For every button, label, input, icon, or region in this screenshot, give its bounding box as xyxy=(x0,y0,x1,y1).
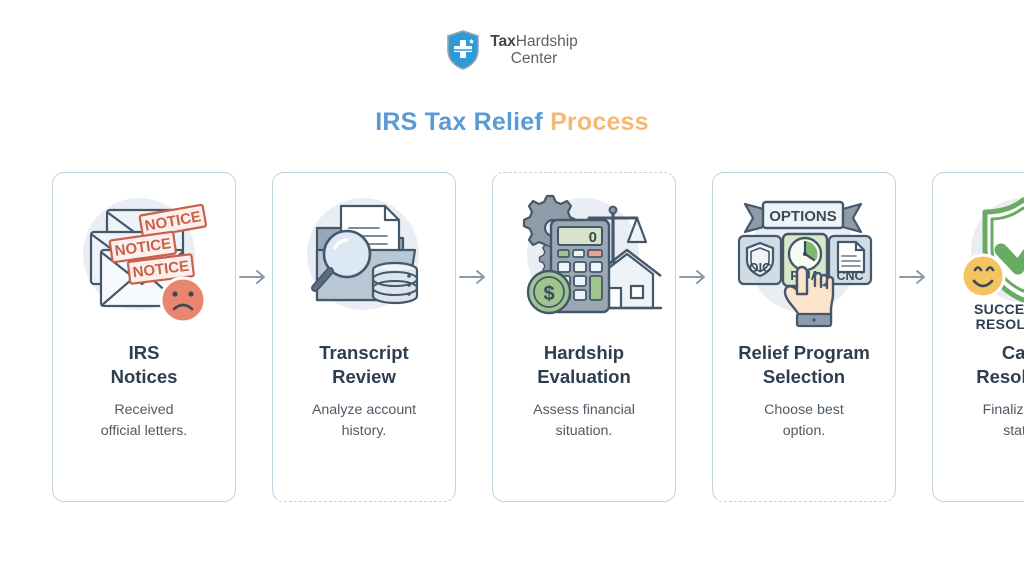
brand-name-rest: Hardship xyxy=(516,33,578,50)
step-card-relief-program-selection[interactable]: OPTIONS OIC xyxy=(712,172,896,502)
brand-name-bold: Tax xyxy=(490,33,516,50)
step-title-line2: Review xyxy=(332,366,396,387)
step-desc: Analyze account history. xyxy=(304,400,424,441)
step-title-line2: Resolution xyxy=(976,366,1024,387)
brand-name-line2: Center xyxy=(490,50,578,67)
step-desc-line1: Choose best xyxy=(764,402,844,418)
step-title: Transcript Review xyxy=(313,341,414,388)
step-title-line2: Notices xyxy=(111,366,178,387)
page-title-accent: Process xyxy=(550,108,649,136)
process-flow: NOTICE NOTICE NOTICE xyxy=(52,172,972,502)
svg-text:$: $ xyxy=(543,283,554,305)
folder-document-magnifier-database-icon xyxy=(284,187,444,337)
brand-logo: TaxHardship Center xyxy=(0,30,1024,70)
svg-text:SUCCESSFUL: SUCCESSFUL xyxy=(974,301,1024,317)
shield-check-smiley-gavel-icon: SUCCESSFUL RESOLUTION xyxy=(944,187,1024,337)
step-desc: Finalize case status. xyxy=(975,400,1024,441)
calculator-gears-scales-house-coin-icon: 0 xyxy=(504,187,664,337)
svg-text:0: 0 xyxy=(589,229,597,246)
step-title: Case Resolution xyxy=(970,341,1024,388)
step-desc-line2: situation. xyxy=(556,423,613,439)
svg-text:CNC: CNC xyxy=(836,269,863,283)
brand-name: TaxHardship Center xyxy=(490,33,578,68)
step-desc-line2: option. xyxy=(783,423,826,439)
arrow-right-icon-3 xyxy=(676,268,712,286)
step-desc-line2: history. xyxy=(342,423,387,439)
svg-text:OIC: OIC xyxy=(749,261,771,275)
step-title-line1: Relief Program xyxy=(738,342,870,363)
step-desc-line2: official letters. xyxy=(101,423,187,439)
step-title-line1: IRS xyxy=(129,342,160,363)
step-card-hardship-evaluation[interactable]: 0 xyxy=(492,172,676,502)
shield-plus-icon xyxy=(446,30,480,70)
infographic-page: TaxHardship Center IRS Tax Relief Proces… xyxy=(0,0,1024,576)
options-banner-tiles-hand-icon: OPTIONS OIC xyxy=(724,187,884,337)
arrow-right-icon-1 xyxy=(236,268,272,286)
step-title-line2: Selection xyxy=(763,366,845,387)
page-title-primary: IRS Tax Relief xyxy=(375,108,543,136)
arrow-right-icon-2 xyxy=(456,268,492,286)
step-title: Relief Program Selection xyxy=(732,341,876,388)
step-title-line1: Case xyxy=(1002,342,1024,363)
svg-text:RESOLUTION: RESOLUTION xyxy=(976,316,1024,332)
step-card-transcript-review[interactable]: Transcript Review Analyze account histor… xyxy=(272,172,456,502)
step-title-line2: Evaluation xyxy=(537,366,631,387)
step-title: Hardship Evaluation xyxy=(531,341,637,388)
step-desc-line1: Received xyxy=(114,402,173,418)
step-card-irs-notices[interactable]: NOTICE NOTICE NOTICE xyxy=(52,172,236,502)
step-desc-line1: Assess financial xyxy=(533,402,635,418)
svg-text:OPTIONS: OPTIONS xyxy=(769,208,837,225)
step-desc-line1: Finalize case xyxy=(983,402,1024,418)
envelopes-notice-sad-face-icon: NOTICE NOTICE NOTICE xyxy=(64,187,224,337)
arrow-right-icon-4 xyxy=(896,268,932,286)
step-title-line1: Hardship xyxy=(544,342,624,363)
step-card-case-resolution[interactable]: SUCCESSFUL RESOLUTION Case Resolution Fi… xyxy=(932,172,1024,502)
step-title-line1: Transcript xyxy=(319,342,408,363)
step-desc-line2: status. xyxy=(1003,423,1024,439)
step-desc: Choose best option. xyxy=(756,400,852,441)
step-desc: Received official letters. xyxy=(93,400,195,441)
step-desc-line1: Analyze account xyxy=(312,402,416,418)
step-desc: Assess financial situation. xyxy=(525,400,643,441)
page-title: IRS Tax Relief Process xyxy=(0,108,1024,137)
step-title: IRS Notices xyxy=(105,341,184,388)
